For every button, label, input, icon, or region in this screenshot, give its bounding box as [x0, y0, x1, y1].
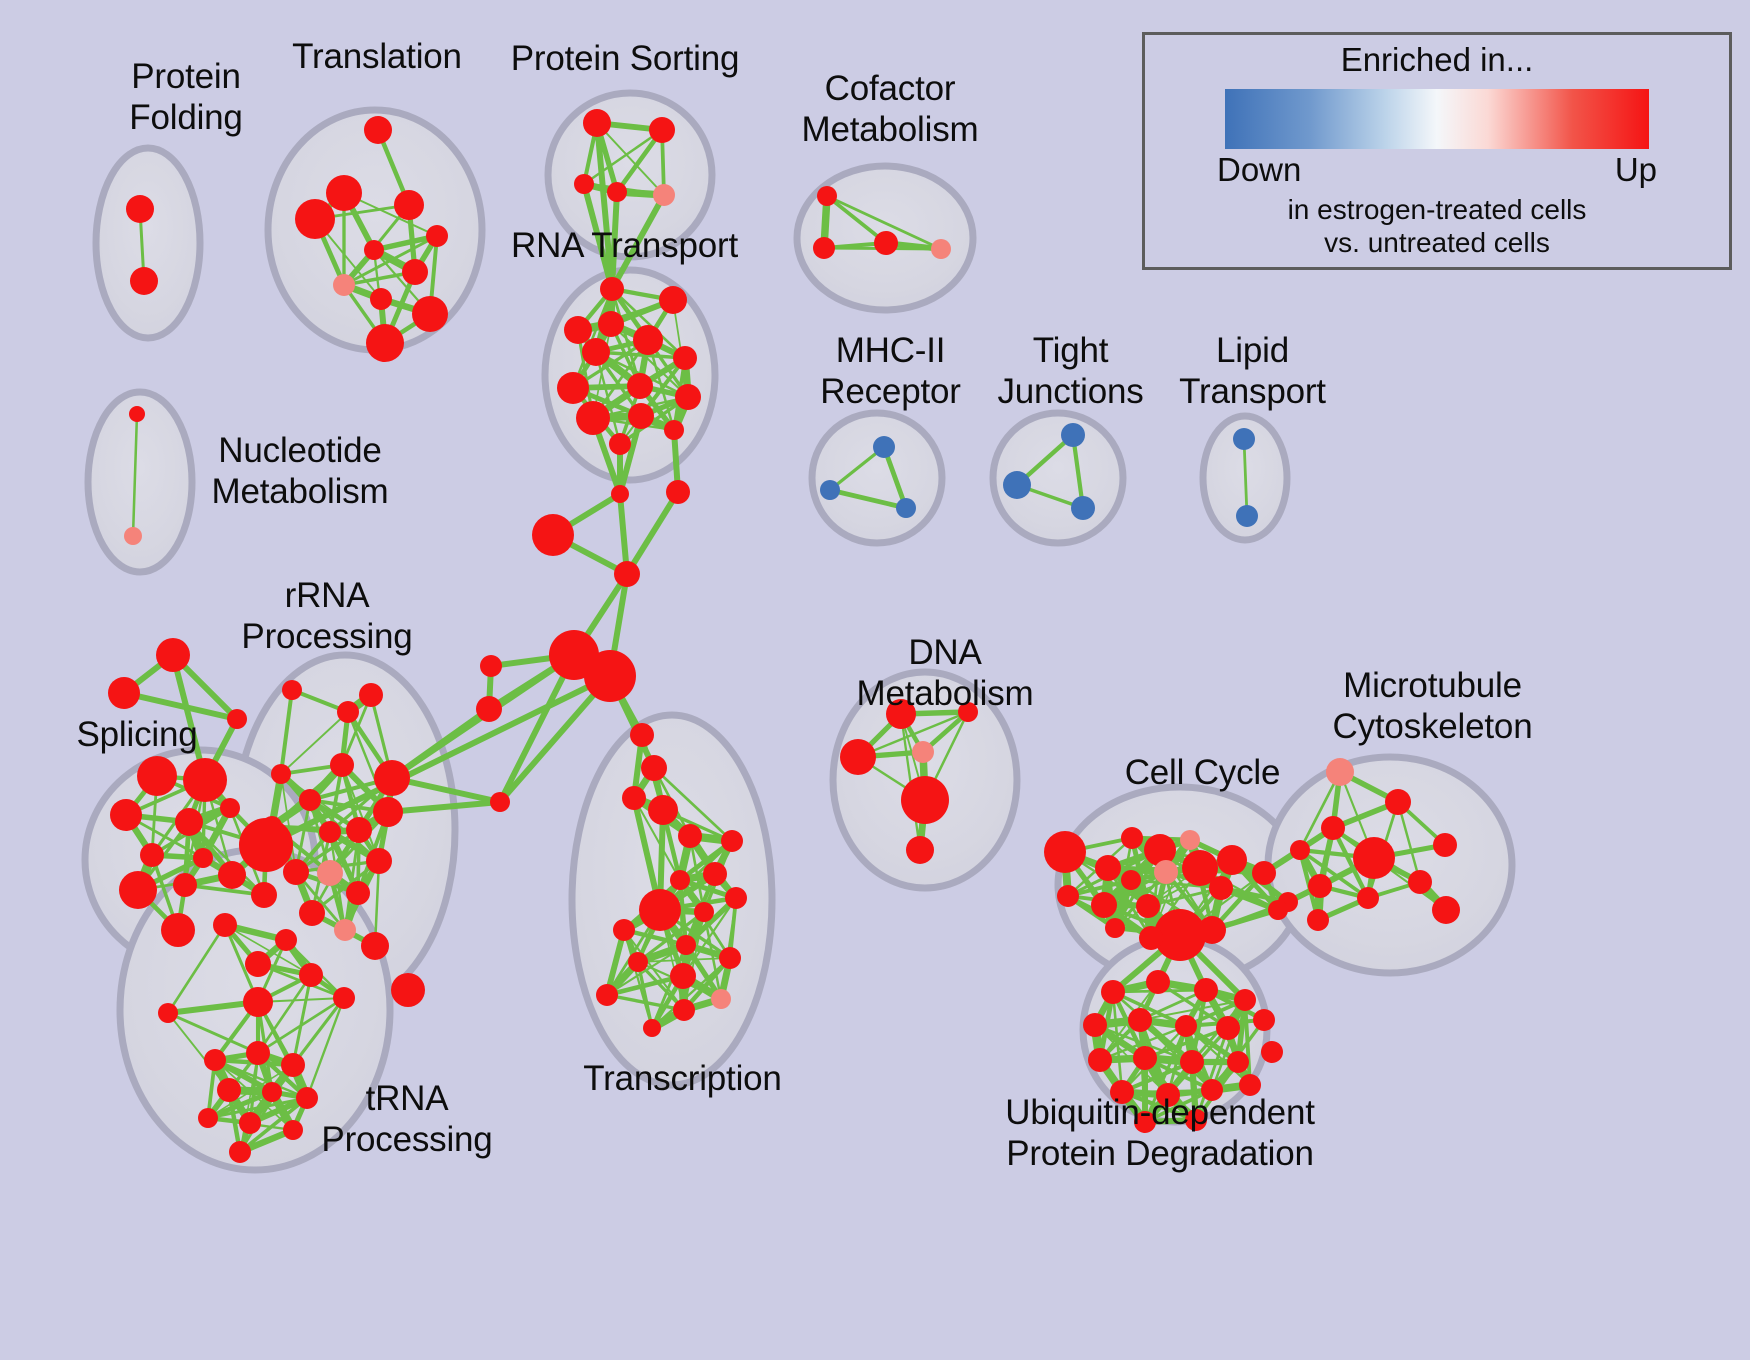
network-node[interactable]	[275, 929, 297, 951]
network-node[interactable]	[1198, 916, 1226, 944]
network-node[interactable]	[721, 830, 743, 852]
network-node[interactable]	[1290, 840, 1310, 860]
network-node[interactable]	[1216, 1016, 1240, 1040]
network-node[interactable]	[1236, 505, 1258, 527]
network-node[interactable]	[906, 836, 934, 864]
network-node[interactable]	[364, 240, 384, 260]
network-node[interactable]	[1095, 855, 1121, 881]
network-node[interactable]	[299, 789, 321, 811]
network-node[interactable]	[583, 109, 611, 137]
network-node[interactable]	[1326, 758, 1354, 786]
network-node[interactable]	[1083, 1013, 1107, 1037]
network-node[interactable]	[676, 935, 696, 955]
network-node[interactable]	[1180, 1050, 1204, 1074]
network-node[interactable]	[243, 987, 273, 1017]
network-node[interactable]	[1194, 978, 1218, 1002]
network-node[interactable]	[262, 1082, 282, 1102]
network-node[interactable]	[319, 821, 341, 843]
network-node[interactable]	[476, 696, 502, 722]
network-node[interactable]	[281, 1053, 305, 1077]
legend-caption: in estrogen-treated cells vs. untreated …	[1145, 193, 1729, 259]
network-node[interactable]	[1003, 471, 1031, 499]
network-node[interactable]	[639, 889, 681, 931]
network-node[interactable]	[1121, 827, 1143, 849]
network-node[interactable]	[246, 1041, 270, 1065]
network-node[interactable]	[1261, 1041, 1283, 1063]
network-node[interactable]	[239, 1112, 261, 1134]
network-node[interactable]	[299, 963, 323, 987]
network-node[interactable]	[725, 887, 747, 909]
network-node[interactable]	[820, 480, 840, 500]
network-node[interactable]	[1201, 1079, 1223, 1101]
network-node[interactable]	[373, 797, 403, 827]
network-node[interactable]	[1239, 1074, 1261, 1096]
network-node[interactable]	[161, 913, 195, 947]
network-node[interactable]	[326, 175, 362, 211]
network-node[interactable]	[1105, 918, 1125, 938]
network-node[interactable]	[391, 973, 425, 1007]
network-node[interactable]	[840, 739, 876, 775]
network-node[interactable]	[412, 296, 448, 332]
network-node[interactable]	[1308, 874, 1332, 898]
network-node[interactable]	[614, 561, 640, 587]
network-node[interactable]	[719, 947, 741, 969]
network-node[interactable]	[901, 776, 949, 824]
network-node[interactable]	[675, 384, 701, 410]
cluster-hull	[812, 413, 942, 543]
network-node[interactable]	[282, 680, 302, 700]
legend-high-label: Up	[1615, 151, 1657, 189]
network-node[interactable]	[609, 433, 631, 455]
network-node[interactable]	[1227, 1051, 1249, 1073]
network-node[interactable]	[711, 989, 731, 1009]
network-node[interactable]	[1252, 861, 1276, 885]
network-node[interactable]	[874, 231, 898, 255]
network-node[interactable]	[1101, 980, 1125, 1004]
network-node[interactable]	[110, 799, 142, 831]
network-node[interactable]	[1071, 496, 1095, 520]
network-node[interactable]	[1180, 830, 1200, 850]
network-node[interactable]	[1408, 870, 1432, 894]
network-node[interactable]	[262, 816, 282, 836]
network-node[interactable]	[1139, 926, 1163, 950]
network-node[interactable]	[1268, 900, 1288, 920]
network-node[interactable]	[931, 239, 951, 259]
network-node[interactable]	[217, 1078, 241, 1102]
network-node[interactable]	[1432, 896, 1460, 924]
network-node[interactable]	[1433, 833, 1457, 857]
network-node[interactable]	[227, 709, 247, 729]
network-node[interactable]	[886, 699, 916, 729]
network-node[interactable]	[229, 1141, 251, 1163]
network-node[interactable]	[108, 677, 140, 709]
network-node[interactable]	[1307, 909, 1329, 931]
network-node[interactable]	[628, 403, 654, 429]
network-node[interactable]	[1209, 876, 1233, 900]
network-node[interactable]	[119, 871, 157, 909]
network-node[interactable]	[271, 764, 291, 784]
network-node[interactable]	[361, 932, 389, 960]
network-node[interactable]	[333, 274, 355, 296]
network-node[interactable]	[359, 683, 383, 707]
network-node[interactable]	[584, 650, 636, 702]
network-node[interactable]	[1233, 428, 1255, 450]
network-node[interactable]	[653, 184, 675, 206]
network-node[interactable]	[193, 848, 213, 868]
network-node[interactable]	[622, 786, 646, 810]
network-node[interactable]	[1217, 845, 1247, 875]
network-node[interactable]	[627, 373, 653, 399]
network-node[interactable]	[251, 882, 277, 908]
network-node[interactable]	[1136, 894, 1160, 918]
network-node[interactable]	[490, 792, 510, 812]
network-node[interactable]	[1061, 423, 1085, 447]
network-node[interactable]	[596, 984, 618, 1006]
network-node[interactable]	[613, 919, 635, 941]
legend-box: Enriched in... Down Up in estrogen-treat…	[1142, 32, 1732, 270]
network-node[interactable]	[175, 808, 203, 836]
legend-title: Enriched in...	[1145, 41, 1729, 79]
network-node[interactable]	[204, 1049, 226, 1071]
network-node[interactable]	[641, 755, 667, 781]
network-node[interactable]	[198, 1108, 218, 1128]
network-node[interactable]	[402, 259, 428, 285]
network-node[interactable]	[140, 843, 164, 867]
cluster-hull	[96, 148, 200, 338]
network-node[interactable]	[346, 817, 372, 843]
network-node[interactable]	[370, 288, 392, 310]
network-edge	[627, 492, 678, 574]
network-node[interactable]	[643, 1019, 661, 1037]
network-node[interactable]	[1128, 1008, 1152, 1032]
network-node[interactable]	[364, 116, 392, 144]
network-figure: Protein FoldingTranslationProtein Sortin…	[0, 0, 1750, 1360]
network-node[interactable]	[366, 848, 392, 874]
network-node[interactable]	[183, 758, 227, 802]
network-node[interactable]	[670, 963, 696, 989]
network-node[interactable]	[678, 824, 702, 848]
network-node[interactable]	[394, 190, 424, 220]
network-node[interactable]	[576, 401, 610, 435]
network-node[interactable]	[574, 174, 594, 194]
network-node[interactable]	[628, 952, 648, 972]
network-node[interactable]	[1353, 837, 1395, 879]
network-node[interactable]	[912, 741, 934, 763]
network-node[interactable]	[130, 267, 158, 295]
network-node[interactable]	[317, 860, 343, 886]
network-node[interactable]	[958, 702, 978, 722]
network-node[interactable]	[1091, 892, 1117, 918]
network-node[interactable]	[1134, 1111, 1156, 1133]
network-node[interactable]	[630, 723, 654, 747]
network-node[interactable]	[670, 870, 690, 890]
network-node[interactable]	[666, 480, 690, 504]
network-node[interactable]	[218, 861, 246, 889]
network-node[interactable]	[374, 760, 410, 796]
legend-color-bar	[1225, 89, 1649, 149]
network-node[interactable]	[426, 225, 448, 247]
network-node[interactable]	[1253, 1009, 1275, 1031]
network-node[interactable]	[896, 498, 916, 518]
network-node[interactable]	[213, 913, 237, 937]
network-node[interactable]	[1110, 1080, 1134, 1104]
network-node[interactable]	[1156, 1083, 1180, 1107]
network-node[interactable]	[659, 286, 687, 314]
network-node[interactable]	[333, 987, 355, 1009]
network-node[interactable]	[283, 1120, 303, 1140]
network-node[interactable]	[299, 900, 325, 926]
network-node[interactable]	[1385, 789, 1411, 815]
network-node[interactable]	[598, 311, 624, 337]
network-node[interactable]	[296, 1087, 318, 1109]
network-node[interactable]	[283, 859, 309, 885]
network-node[interactable]	[1234, 989, 1256, 1011]
network-node[interactable]	[295, 199, 335, 239]
network-node[interactable]	[564, 316, 592, 344]
network-node[interactable]	[673, 346, 697, 370]
network-node[interactable]	[694, 902, 714, 922]
network-node[interactable]	[633, 325, 663, 355]
network-node[interactable]	[245, 951, 271, 977]
network-node[interactable]	[124, 527, 142, 545]
network-node[interactable]	[156, 638, 190, 672]
network-node[interactable]	[334, 919, 356, 941]
legend-low-label: Down	[1217, 151, 1301, 189]
network-node[interactable]	[129, 406, 145, 422]
network-node[interactable]	[1044, 831, 1086, 873]
network-node[interactable]	[480, 655, 502, 677]
network-node[interactable]	[1133, 1046, 1157, 1070]
network-node[interactable]	[366, 324, 404, 362]
network-node[interactable]	[600, 277, 624, 301]
network-node[interactable]	[1146, 970, 1170, 994]
network-node[interactable]	[607, 182, 627, 202]
network-node[interactable]	[1185, 1109, 1207, 1131]
network-node[interactable]	[664, 420, 684, 440]
network-node[interactable]	[649, 117, 675, 143]
network-node[interactable]	[1175, 1015, 1197, 1037]
network-node[interactable]	[648, 795, 678, 825]
network-node[interactable]	[1088, 1048, 1112, 1072]
network-node[interactable]	[1057, 885, 1079, 907]
network-node[interactable]	[611, 485, 629, 503]
network-node[interactable]	[158, 1003, 178, 1023]
network-node[interactable]	[173, 873, 197, 897]
network-node[interactable]	[813, 237, 835, 259]
network-node[interactable]	[703, 862, 727, 886]
network-node[interactable]	[557, 372, 589, 404]
network-node[interactable]	[330, 753, 354, 777]
network-node[interactable]	[873, 436, 895, 458]
network-node[interactable]	[126, 195, 154, 223]
network-node[interactable]	[1121, 870, 1141, 890]
network-node[interactable]	[582, 338, 610, 366]
network-node[interactable]	[1154, 860, 1178, 884]
network-node[interactable]	[137, 756, 177, 796]
network-node[interactable]	[337, 701, 359, 723]
network-node[interactable]	[220, 798, 240, 818]
network-node[interactable]	[673, 999, 695, 1021]
network-node[interactable]	[1357, 887, 1379, 909]
network-node[interactable]	[532, 514, 574, 556]
network-node[interactable]	[1321, 816, 1345, 840]
network-node[interactable]	[346, 881, 370, 905]
network-node[interactable]	[817, 186, 837, 206]
